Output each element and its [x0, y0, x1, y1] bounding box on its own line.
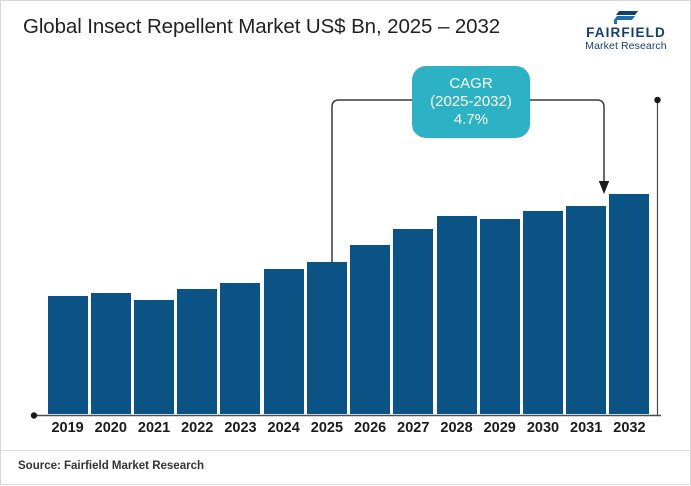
- xtick-label-2030: 2030: [521, 420, 564, 436]
- bar-2029: [480, 219, 520, 414]
- footer-divider: [1, 450, 690, 451]
- bar-2027: [393, 229, 433, 414]
- bar-2031: [566, 206, 606, 414]
- xtick-label-2029: 2029: [478, 420, 521, 436]
- xtick-label-2020: 2020: [89, 420, 132, 436]
- bar-2024: [264, 269, 304, 414]
- chart-card: Global Insect Repellent Market US$ Bn, 2…: [0, 0, 691, 485]
- xtick-label-2022: 2022: [176, 420, 219, 436]
- bar-2020: [91, 293, 131, 414]
- cagr-label: CAGR: [449, 75, 492, 93]
- cagr-value: 4.7%: [454, 111, 488, 129]
- cagr-leader-line-right: [530, 100, 604, 184]
- xtick-label-2019: 2019: [46, 420, 89, 436]
- xtick-label-2032: 2032: [608, 420, 651, 436]
- bar-2026: [350, 245, 390, 414]
- x-axis-start-dot: [31, 412, 37, 418]
- xtick-label-2026: 2026: [349, 420, 392, 436]
- cagr-period: (2025-2032): [430, 93, 512, 111]
- bar-2028: [437, 216, 477, 414]
- bar-2030: [523, 211, 563, 414]
- xtick-label-2024: 2024: [262, 420, 305, 436]
- bar-2022: [177, 289, 217, 414]
- xtick-label-2023: 2023: [219, 420, 262, 436]
- bar-2021: [134, 300, 174, 414]
- source-note: Source: Fairfield Market Research: [18, 460, 204, 472]
- bar-2023: [220, 283, 260, 414]
- bar-2019: [48, 296, 88, 414]
- xtick-label-2028: 2028: [435, 420, 478, 436]
- xtick-label-2031: 2031: [565, 420, 608, 436]
- xtick-label-2025: 2025: [305, 420, 348, 436]
- right-spine-dot: [654, 97, 660, 103]
- xtick-label-2021: 2021: [132, 420, 175, 436]
- cagr-callout: CAGR (2025-2032) 4.7%: [412, 66, 530, 138]
- xtick-label-2027: 2027: [392, 420, 435, 436]
- bar-2025: [307, 262, 347, 414]
- bar-2032: [609, 194, 649, 414]
- cagr-arrowhead-icon: [599, 181, 609, 194]
